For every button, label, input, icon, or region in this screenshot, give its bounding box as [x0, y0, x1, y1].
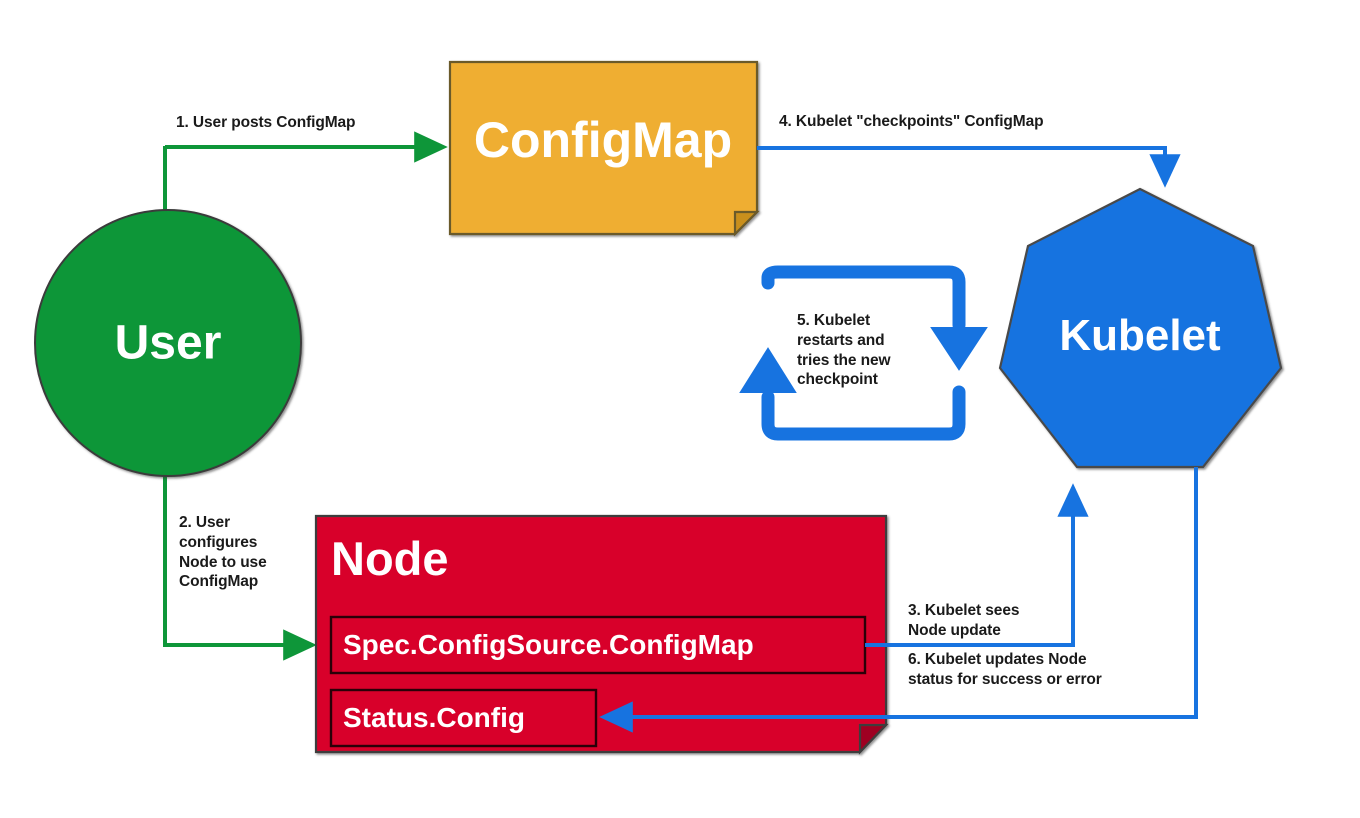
step-label-3: 3. Kubelet sees Node update: [908, 601, 1019, 641]
step-label-1: 1. User posts ConfigMap: [176, 113, 355, 133]
step-label-2: 2. User configures Node to use ConfigMap: [179, 513, 267, 592]
connector-step-4: [757, 148, 1165, 183]
connector-step-1: [165, 146, 443, 148]
node-configmap-label: ConfigMap: [474, 111, 732, 169]
node-user-label: User: [115, 316, 222, 371]
field-label-status-config: Status.Config: [343, 702, 525, 734]
node-node-label: Node: [331, 535, 449, 582]
step-label-5: 5. Kubelet restarts and tries the new ch…: [797, 311, 890, 390]
step-label-6: 6. Kubelet updates Node status for succe…: [908, 650, 1102, 690]
field-label-spec-configsource-configmap: Spec.ConfigSource.ConfigMap: [343, 629, 754, 661]
diagram-canvas: User ConfigMap Kubelet Node Spec.ConfigS…: [0, 0, 1360, 818]
step-label-4: 4. Kubelet "checkpoints" ConfigMap: [779, 112, 1044, 132]
node-kubelet-label: Kubelet: [1059, 311, 1220, 361]
